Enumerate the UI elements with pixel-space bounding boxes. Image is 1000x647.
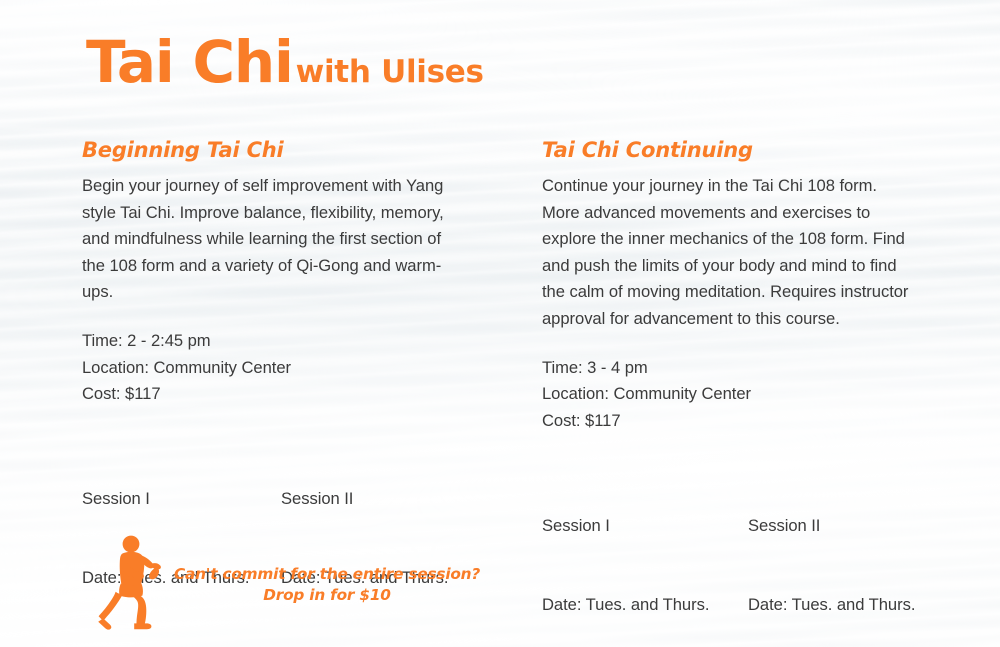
course-details: Time: 3 - 4 pm Location: Community Cente… — [542, 355, 962, 435]
course-description: Begin your journey of self improvement w… — [82, 173, 454, 306]
session-days: Date: Tues. and Thurs. — [748, 592, 915, 618]
session-block: Session II Date: Tues. and Thurs. 7/7 - … — [748, 460, 915, 647]
session-name: Session II — [281, 486, 448, 512]
course-time: Time: 2 - 2:45 pm — [82, 328, 502, 355]
course-description: Continue your journey in the Tai Chi 108… — [542, 173, 914, 333]
session-days: Date: Tues. and Thurs. — [542, 592, 748, 618]
course-card-continuing: Tai Chi Continuing Continue your journey… — [542, 138, 962, 647]
course-details: Time: 2 - 2:45 pm Location: Community Ce… — [82, 328, 502, 408]
flyer-content: Tai Chi with Ulises Beginning Tai Chi Be… — [0, 0, 1000, 647]
page-title: Tai Chi — [86, 33, 293, 91]
drop-in-promo: Can't commit for the entire session? Dro… — [96, 534, 496, 630]
course-location: Location: Community Center — [82, 355, 502, 382]
flyer-title: Tai Chi with Ulises — [86, 33, 484, 91]
course-cost: Cost: $117 — [82, 381, 502, 408]
session-name: Session I — [82, 486, 281, 512]
promo-line-1: Can't commit for the entire session? — [152, 564, 502, 585]
course-heading: Tai Chi Continuing — [542, 138, 962, 162]
promo-text: Can't commit for the entire session? Dro… — [152, 564, 502, 605]
session-block: Session I Date: Tues. and Thurs. 5/12 - … — [542, 460, 748, 647]
session-name: Session I — [542, 513, 748, 539]
course-sessions: Session I Date: Tues. and Thurs. 5/12 - … — [542, 460, 962, 647]
course-time: Time: 3 - 4 pm — [542, 355, 962, 382]
tai-chi-flyer: Tai Chi with Ulises Beginning Tai Chi Be… — [0, 0, 1000, 647]
course-cost: Cost: $117 — [542, 408, 962, 435]
course-location: Location: Community Center — [542, 381, 962, 408]
course-heading: Beginning Tai Chi — [82, 138, 502, 162]
promo-line-2: Drop in for $10 — [152, 585, 502, 606]
page-subtitle: with Ulises — [296, 57, 484, 90]
session-name: Session II — [748, 513, 915, 539]
